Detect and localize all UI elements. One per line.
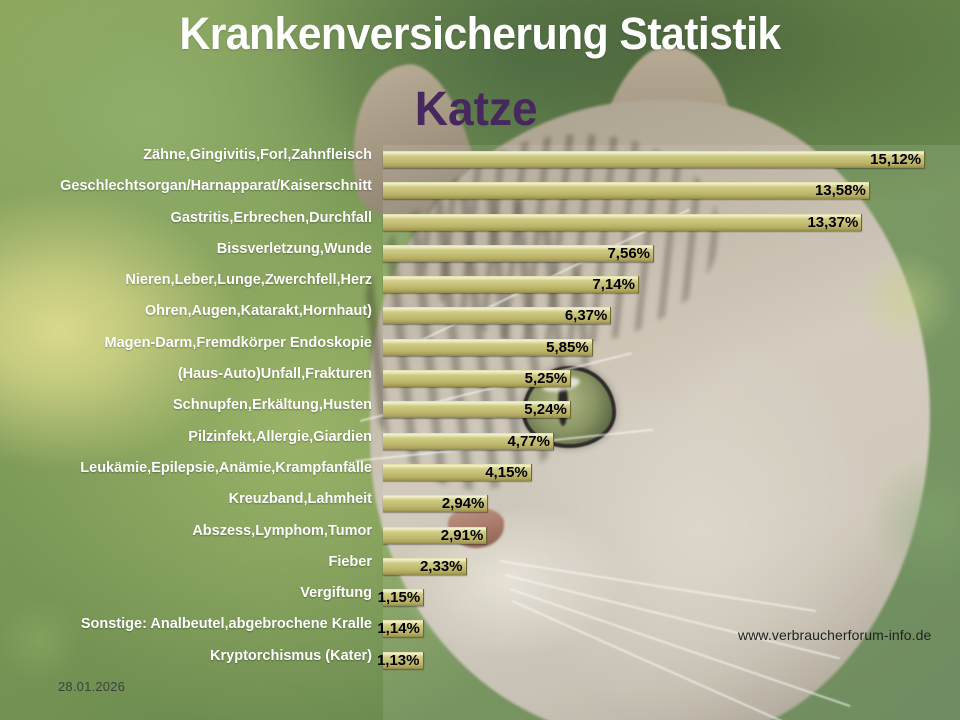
date-stamp: 28.01.2026 (58, 679, 125, 694)
category-label: Sonstige: Analbeutel,abgebrochene Kralle (0, 616, 372, 632)
bar-container: 13,37% (383, 214, 862, 231)
category-label: Ohren,Augen,Katarakt,Hornhaut) (0, 303, 372, 319)
bar-row: Schnupfen,Erkältung,Husten5,24% (0, 395, 960, 426)
bar-row: Vergiftung1,15% (0, 583, 960, 614)
category-label: Kryptorchismus (Kater) (0, 648, 372, 664)
category-label: Vergiftung (0, 585, 372, 601)
bar-row: Geschlechtsorgan/Harnapparat/Kaiserschni… (0, 176, 960, 207)
value-label: 13,37% (807, 214, 858, 231)
bar-row: Leukämie,Epilepsie,Anämie,Krampfanfälle4… (0, 458, 960, 489)
bar-row: Pilzinfekt,Allergie,Giardien4,77% (0, 427, 960, 458)
bar-chart-rows: Zähne,Gingivitis,Forl,Zahnfleisch15,12%G… (0, 145, 960, 677)
website-credit: www.verbraucherforum-info.de (738, 627, 931, 643)
bar-row: Abszess,Lymphom,Tumor2,91% (0, 521, 960, 552)
value-label: 5,24% (524, 401, 567, 418)
category-label: Geschlechtsorgan/Harnapparat/Kaiserschni… (0, 178, 372, 194)
value-label: 15,12% (870, 151, 921, 168)
page-title: Krankenversicherung Statistik (24, 8, 936, 60)
value-label: 1,13% (377, 652, 420, 669)
bar-row: Fieber2,33% (0, 552, 960, 583)
bar-row: (Haus-Auto)Unfall,Frakturen5,25% (0, 364, 960, 395)
bar-container: 4,15% (383, 464, 532, 481)
bar-container: 1,13% (383, 652, 424, 669)
category-label: Fieber (0, 554, 372, 570)
category-label: Schnupfen,Erkältung,Husten (0, 397, 372, 413)
category-label: Nieren,Leber,Lunge,Zwerchfell,Herz (0, 272, 372, 288)
bar-row: Kreuzband,Lahmheit2,94% (0, 489, 960, 520)
bar-row: Kryptorchismus (Kater)1,13% (0, 646, 960, 677)
page-subtitle: Katze (15, 82, 937, 137)
bar-container: 13,58% (383, 182, 870, 199)
value-label: 13,58% (815, 182, 866, 199)
bar (383, 214, 862, 231)
category-label: Abszess,Lymphom,Tumor (0, 523, 372, 539)
bar-container: 2,91% (383, 527, 487, 544)
value-label: 2,91% (441, 527, 484, 544)
bar (383, 182, 870, 199)
bar-row: Bissverletzung,Wunde7,56% (0, 239, 960, 270)
bar-container: 6,37% (383, 307, 611, 324)
value-label: 4,15% (485, 464, 528, 481)
bar (383, 151, 925, 168)
category-label: Kreuzband,Lahmheit (0, 491, 372, 507)
category-label: Zähne,Gingivitis,Forl,Zahnfleisch (0, 147, 372, 163)
bar-container: 15,12% (383, 151, 925, 168)
value-label: 1,14% (377, 620, 420, 637)
category-label: Bissverletzung,Wunde (0, 241, 372, 257)
value-label: 7,56% (607, 245, 650, 262)
bar-container: 5,24% (383, 401, 571, 418)
bar-container: 5,25% (383, 370, 571, 387)
category-label: Gastritis,Erbrechen,Durchfall (0, 210, 372, 226)
value-label: 6,37% (565, 307, 608, 324)
bar-container: 7,14% (383, 276, 639, 293)
value-label: 4,77% (507, 433, 550, 450)
bar-container: 2,33% (383, 558, 467, 575)
bar-row: Magen-Darm,Fremdkörper Endoskopie5,85% (0, 333, 960, 364)
value-label: 5,25% (525, 370, 568, 387)
value-label: 5,85% (546, 339, 589, 356)
bar-container: 1,14% (383, 620, 424, 637)
bar-row: Zähne,Gingivitis,Forl,Zahnfleisch15,12% (0, 145, 960, 176)
value-label: 7,14% (592, 276, 635, 293)
bar-row: Ohren,Augen,Katarakt,Hornhaut)6,37% (0, 301, 960, 332)
bar-container: 7,56% (383, 245, 654, 262)
category-label: Magen-Darm,Fremdkörper Endoskopie (0, 335, 372, 351)
value-label: 2,94% (442, 495, 485, 512)
category-label: Pilzinfekt,Allergie,Giardien (0, 429, 372, 445)
bar-container: 2,94% (383, 495, 488, 512)
category-label: (Haus-Auto)Unfall,Frakturen (0, 366, 372, 382)
value-label: 2,33% (420, 558, 463, 575)
chart-slide: Krankenversicherung Statistik Katze Zähn… (0, 0, 960, 720)
bar-container: 5,85% (383, 339, 593, 356)
bar-container: 1,15% (383, 589, 424, 606)
bar-container: 4,77% (383, 433, 554, 450)
bar-row: Gastritis,Erbrechen,Durchfall13,37% (0, 208, 960, 239)
category-label: Leukämie,Epilepsie,Anämie,Krampfanfälle (0, 460, 372, 476)
bar-row: Nieren,Leber,Lunge,Zwerchfell,Herz7,14% (0, 270, 960, 301)
value-label: 1,15% (378, 589, 421, 606)
